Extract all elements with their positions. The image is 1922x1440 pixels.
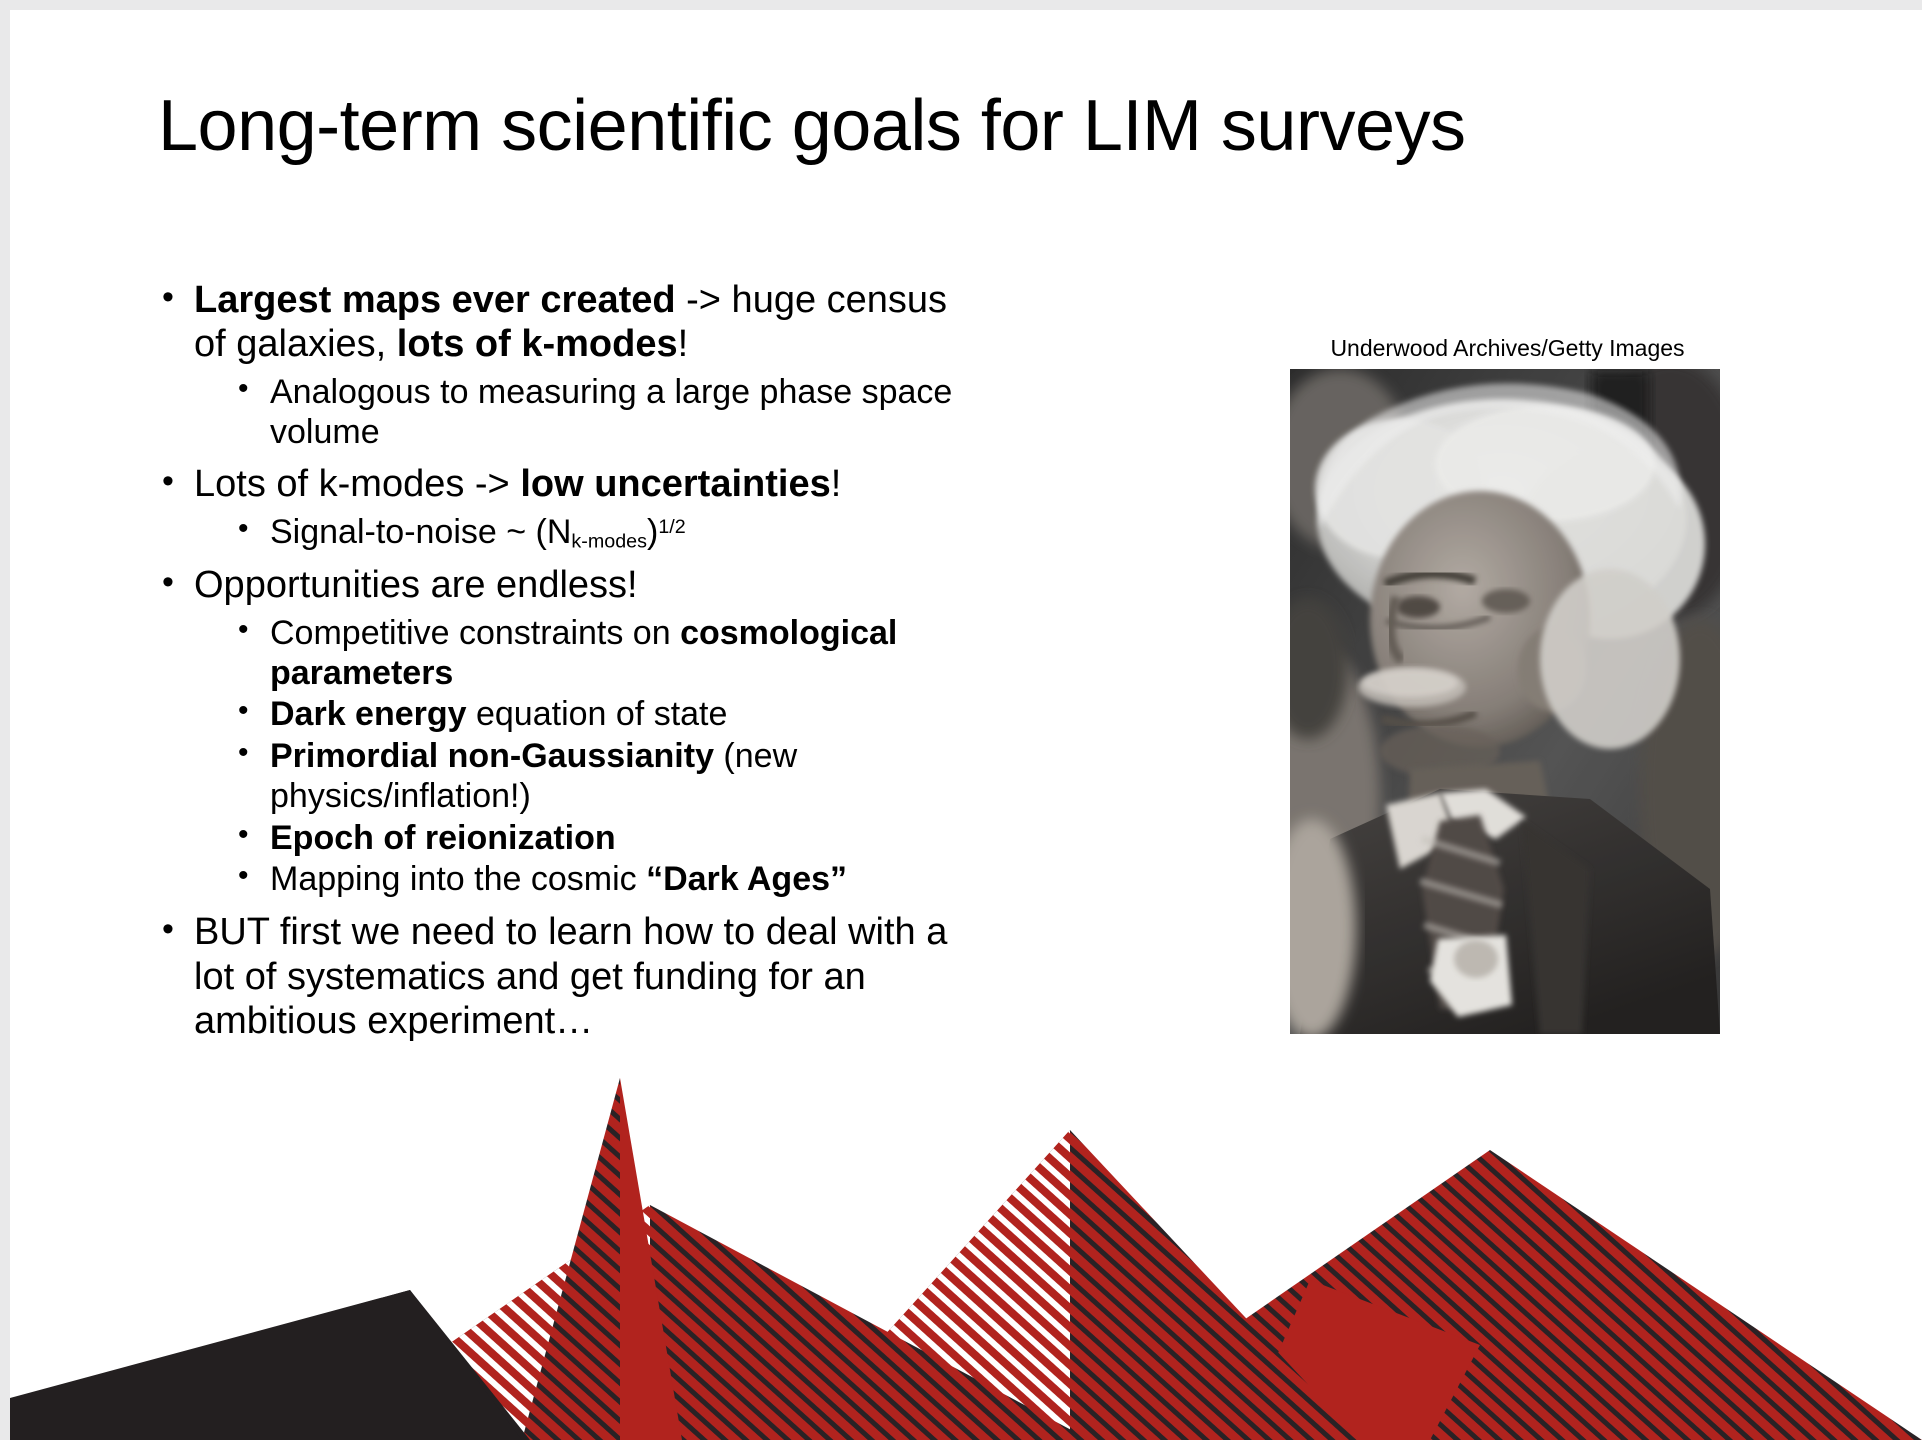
- photo-block: Underwood Archives/Getty Images: [1290, 335, 1725, 1034]
- footer-decoration: [10, 1000, 1922, 1440]
- peak-right-solid: [1240, 1280, 1480, 1440]
- bullet-largest-maps-tail: !: [678, 323, 689, 365]
- bullet-analogous-phase-space: Analogous to measuring a large phase spa…: [230, 373, 968, 453]
- bullet-cosmo-pre: Competitive constraints on: [270, 614, 680, 652]
- bullet-lots-of-kmodes-bold: low uncertainties: [520, 463, 830, 505]
- bullet-lots-of-kmodes-tail: !: [831, 463, 842, 505]
- peak-middle-white-striped-face: [790, 1130, 1070, 1440]
- bullet-list-level2-snr: Signal-to-noise ~ (Nk-modes)1/2: [194, 513, 968, 553]
- bullet-dark-energy-bold: Dark energy: [270, 695, 467, 733]
- bullet-snr-subscript: k-modes: [571, 530, 647, 552]
- bullet-signal-to-noise: Signal-to-noise ~ (Nk-modes)1/2: [230, 513, 968, 553]
- peak-right-striped: [1070, 1150, 1922, 1440]
- bullet-analogous-text: Analogous to measuring a large phase spa…: [270, 373, 952, 451]
- peak-center-white-striped-face: [310, 1205, 650, 1440]
- bullet-dark-ages-pre: Mapping into the cosmic: [270, 860, 646, 898]
- bullet-list-level1: Largest maps ever created -> huge census…: [158, 278, 968, 1043]
- spike-red-striped-face: [522, 1078, 620, 1440]
- einstein-photo-image: [1290, 369, 1720, 1034]
- peak-black-face: [10, 1290, 522, 1440]
- bullet-primordial-non-gaussianity: Primordial non-Gaussianity (new physics/…: [230, 737, 968, 817]
- bullet-epoch-of-reionization: Epoch of reionization: [230, 819, 968, 859]
- bullet-largest-maps-bold-kmodes: lots of k-modes: [397, 323, 678, 365]
- photo-credit-caption: Underwood Archives/Getty Images: [1290, 335, 1725, 363]
- bullet-list-level2-opportunities: Competitive constraints on cosmological …: [194, 614, 968, 900]
- slide-canvas: Long-term scientific goals for LIM surve…: [10, 10, 1922, 1440]
- bullet-snr-mid: ): [647, 513, 658, 551]
- bullet-but-first-text: BUT first we need to learn how to deal w…: [194, 910, 968, 1043]
- bullet-list-container: Largest maps ever created -> huge census…: [158, 278, 968, 1053]
- bullet-png-bold: Primordial non-Gaussianity: [270, 737, 714, 775]
- bullet-largest-maps: Largest maps ever created -> huge census…: [158, 278, 968, 452]
- peak-black: [10, 1290, 530, 1440]
- bullet-dark-ages-bold: “Dark Ages”: [646, 860, 847, 898]
- bullet-lots-of-kmodes-text: Lots of k-modes -> low uncertainties!: [194, 462, 968, 506]
- bullet-opportunities-text: Opportunities are endless!: [194, 563, 968, 607]
- bullet-opportunities: Opportunities are endless! Competitive c…: [158, 563, 968, 900]
- bullet-lots-of-kmodes: Lots of k-modes -> low uncertainties! Si…: [158, 462, 968, 553]
- bullet-snr-pre: Signal-to-noise ~ (N: [270, 513, 571, 551]
- peak-center-striped: [310, 1205, 1090, 1440]
- bullet-eor-bold: Epoch of reionization: [270, 819, 616, 857]
- einstein-photo: [1290, 369, 1720, 1034]
- bullet-cosmological-parameters: Competitive constraints on cosmological …: [230, 614, 968, 694]
- bullet-list-level2-analogous: Analogous to measuring a large phase spa…: [194, 373, 968, 453]
- bullet-dark-ages: Mapping into the cosmic “Dark Ages”: [230, 860, 968, 900]
- peak-middle-striped: [790, 1130, 1360, 1440]
- spike-red-solid: [558, 1078, 682, 1440]
- bullet-dark-energy: Dark energy equation of state: [230, 695, 968, 735]
- bullet-lots-of-kmodes-lead: Lots of k-modes ->: [194, 463, 520, 505]
- bullet-largest-maps-text: Largest maps ever created -> huge census…: [194, 278, 968, 367]
- page-title: Long-term scientific goals for LIM surve…: [158, 88, 1758, 166]
- mountain-graphic: [10, 1000, 1922, 1440]
- bullet-snr-superscript: 1/2: [658, 516, 685, 538]
- bullet-largest-maps-bold-lead: Largest maps ever created: [194, 279, 676, 321]
- bullet-but-first-systematics: BUT first we need to learn how to deal w…: [158, 910, 968, 1043]
- bullet-dark-energy-tail: equation of state: [467, 695, 728, 733]
